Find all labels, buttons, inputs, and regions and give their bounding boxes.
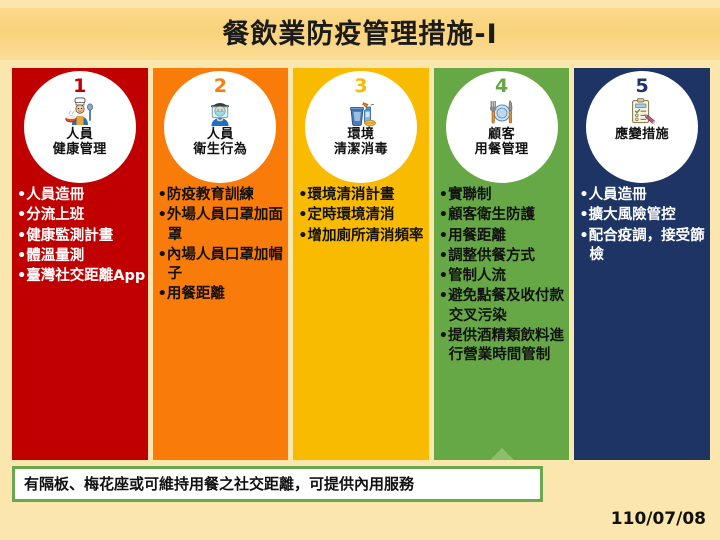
badge-number: 1 bbox=[73, 77, 86, 96]
list-item: 內場人員口罩加帽子 bbox=[158, 246, 287, 285]
list-item: 體溫量測 bbox=[17, 247, 146, 266]
list-item: 臺灣社交距離App bbox=[17, 267, 146, 286]
list-item: 健康監測計畫 bbox=[17, 227, 146, 246]
cleaning-bucket-spray-icon bbox=[344, 97, 378, 127]
badge-title: 環境 清潔消毒 bbox=[334, 128, 388, 157]
column-badge: 3 環境 清潔消毒 bbox=[305, 71, 417, 183]
column-item-list: 人員造冊 分流上班 健康監測計畫 體溫量測 臺灣社交距離App bbox=[17, 186, 146, 287]
footer-note-text: 有隔板、梅花座或可維持用餐之社交距離，可提供內用服務 bbox=[24, 477, 414, 492]
title-banner: 餐飲業防疫管理措施-I bbox=[0, 8, 720, 60]
column-personnel-health[interactable]: 1 人員 健康管理 bbox=[12, 68, 148, 460]
list-item: 避免點餐及收付款交叉污染 bbox=[439, 287, 568, 326]
badge-title-line2: 清潔消毒 bbox=[334, 143, 388, 158]
column-badge: 1 人員 健康管理 bbox=[24, 71, 136, 183]
list-item: 人員造冊 bbox=[17, 186, 146, 205]
page-title: 餐飲業防疫管理措施-I bbox=[222, 21, 497, 48]
measure-columns: 1 人員 健康管理 bbox=[12, 68, 710, 460]
badge-number: 3 bbox=[354, 77, 367, 96]
pointer-arrow-icon bbox=[489, 448, 515, 460]
badge-title-line1: 人員 bbox=[53, 128, 107, 143]
badge-title-line1: 環境 bbox=[334, 128, 388, 143]
badge-title: 應變措施 bbox=[615, 128, 669, 143]
poster-canvas: 餐飲業防疫管理措施-I 1 bbox=[0, 0, 720, 540]
list-item: 調整供餐方式 bbox=[439, 247, 568, 266]
badge-title-line2: 衛生行為 bbox=[193, 143, 247, 158]
column-badge: 2 人員 衛生行為 bbox=[164, 71, 276, 183]
list-item: 環境清消計畫 bbox=[298, 186, 427, 205]
column-contingency-measures[interactable]: 5 應 bbox=[574, 68, 710, 460]
column-item-list: 實聯制 顧客衛生防護 用餐距離 調整供餐方式 管制人流 避免點餐及收付款交叉污染… bbox=[439, 186, 568, 367]
clipboard-checklist-pencil-icon bbox=[625, 97, 659, 127]
badge-title: 人員 健康管理 bbox=[53, 128, 107, 157]
chef-cooking-icon bbox=[63, 97, 97, 127]
badge-title-line2: 健康管理 bbox=[53, 143, 107, 158]
column-item-list: 環境清消計畫 定時環境清消 增加廁所清消頻率 bbox=[298, 186, 427, 247]
badge-title-line1: 應變措施 bbox=[615, 128, 669, 143]
list-item: 管制人流 bbox=[439, 267, 568, 286]
badge-title: 顧客 用餐管理 bbox=[475, 128, 529, 157]
badge-title-line1: 顧客 bbox=[475, 128, 529, 143]
column-environment-cleaning[interactable]: 3 環境 清潔消毒 環境 bbox=[293, 68, 429, 460]
column-badge: 5 應 bbox=[586, 71, 698, 183]
badge-title-line2: 用餐管理 bbox=[475, 143, 529, 158]
list-item: 實聯制 bbox=[439, 186, 568, 205]
list-item: 提供酒精類飲料進行營業時間管制 bbox=[439, 327, 568, 366]
list-item: 用餐距離 bbox=[158, 285, 287, 304]
column-item-list: 人員造冊 擴大風險管控 配合疫調，接受篩檢 bbox=[579, 186, 708, 266]
badge-number: 2 bbox=[214, 77, 227, 96]
column-customer-dining[interactable]: 4 顧客 bbox=[434, 68, 570, 460]
list-item: 配合疫調，接受篩檢 bbox=[579, 227, 708, 266]
list-item: 外場人員口罩加面罩 bbox=[158, 206, 287, 245]
column-badge: 4 顧客 bbox=[446, 71, 558, 183]
badge-number: 4 bbox=[495, 77, 508, 96]
badge-title-line1: 人員 bbox=[193, 128, 247, 143]
list-item: 防疫教育訓練 bbox=[158, 186, 287, 205]
list-item: 顧客衛生防護 bbox=[439, 206, 568, 225]
date-stamp: 110/07/08 bbox=[611, 511, 706, 528]
list-item: 用餐距離 bbox=[439, 227, 568, 246]
person-face-shield-mask-icon bbox=[203, 97, 237, 127]
footer-note-box: 有隔板、梅花座或可維持用餐之社交距離，可提供內用服務 bbox=[12, 466, 543, 502]
column-personnel-hygiene[interactable]: 2 人員 衛生行為 防疫教育訓練 bbox=[153, 68, 289, 460]
list-item: 定時環境清消 bbox=[298, 206, 427, 225]
plate-fork-knife-icon bbox=[485, 97, 519, 127]
list-item: 擴大風險管控 bbox=[579, 206, 708, 225]
list-item: 增加廁所清消頻率 bbox=[298, 227, 427, 246]
list-item: 分流上班 bbox=[17, 206, 146, 225]
column-item-list: 防疫教育訓練 外場人員口罩加面罩 內場人員口罩加帽子 用餐距離 bbox=[158, 186, 287, 306]
list-item: 人員造冊 bbox=[579, 186, 708, 205]
badge-title: 人員 衛生行為 bbox=[193, 128, 247, 157]
badge-number: 5 bbox=[636, 77, 649, 96]
